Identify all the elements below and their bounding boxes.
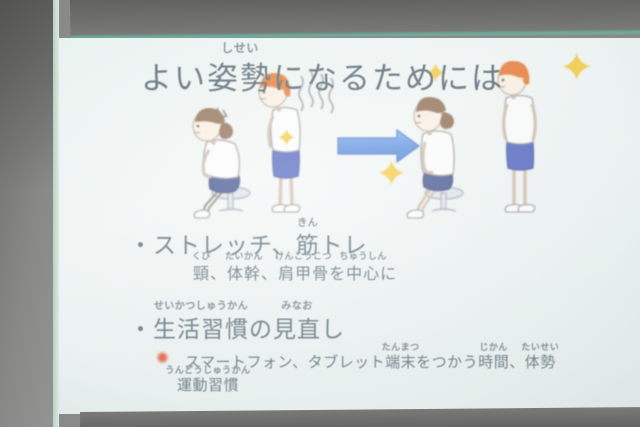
bullet-2-seg-0: 生活習慣 (153, 316, 249, 342)
b2s-seg-4: 、 (509, 354, 525, 371)
bullet-2-ruby-2: みなお (281, 297, 313, 312)
slide-title-text: よいしせい姿勢になるためには (141, 53, 504, 98)
b1s-ruby-0: くび (192, 249, 211, 262)
b1s-seg-2: 体幹 (227, 266, 261, 283)
b1s-seg-4: 肩甲骨 (278, 266, 329, 283)
sparkle-icon (379, 161, 404, 186)
b2s-seg-3: 時間 (478, 354, 509, 371)
bullet-2-marker: ・ (129, 316, 153, 342)
b1s-seg-5: を (329, 266, 346, 283)
bullet-2-seg-1: の (249, 316, 273, 342)
laser-pointer-dot (157, 352, 168, 363)
bullet-2: ・せいかつしゅうかん生活習慣のみなお見直し (129, 310, 345, 344)
b1s-ruby-4: けんこうこつ (275, 249, 332, 262)
b2s-seg-2: をつかう (416, 354, 478, 371)
slide-title: よいしせい姿勢になるためには (141, 53, 504, 98)
projected-slide: よいしせい姿勢になるためには ・ストレッチ、きん筋トレ くび頸、たいかん体幹、け… (59, 38, 640, 414)
bullet-2-seg-3: し (321, 316, 345, 342)
wall-left-shading (0, 0, 54, 427)
bullet-1-subline: くび頸、たいかん体幹、けんこうこつ肩甲骨をちゅうしん中心に (193, 260, 397, 284)
title-seg-0: よい (141, 61, 207, 96)
bullet-2-seg-2: 見直 (273, 316, 321, 342)
bullet-2-subline-2: うんどうしゅうかん運動習慣 (177, 374, 239, 395)
projection-room: よいしせい姿勢になるためには ・ストレッチ、きん筋トレ くび頸、たいかん体幹、け… (0, 0, 640, 427)
b1s-seg-1: 、 (210, 266, 227, 283)
b2s-ruby-5: たいせい (521, 340, 559, 353)
bullet-1-ruby-0: きん (297, 214, 318, 229)
title-ruby-0: しせい (221, 39, 259, 56)
transition-arrow-icon (338, 130, 419, 162)
figure-slouching-girl (193, 108, 250, 218)
title-seg-1: 姿勢 (207, 61, 273, 96)
bullet-2-ruby-0: せいかつしゅうかん (154, 297, 249, 312)
b1s-seg-6: 中心 (346, 266, 380, 283)
b1s-ruby-2: たいかん (225, 249, 263, 262)
sparkle-icon (563, 53, 590, 80)
title-seg-2: になるためには (273, 61, 504, 96)
b2s-ruby-3: じかん (479, 340, 508, 353)
b1s-seg-3: 、 (261, 266, 278, 283)
b2s-seg-1: 端末 (385, 354, 416, 371)
b2s2-ruby-0: うんどうしゅうかん (165, 363, 250, 376)
b2s2-seg-0: 運動習慣 (177, 377, 239, 394)
figure-good-posture-girl (407, 97, 463, 218)
b1s-seg-7: に (380, 266, 397, 283)
b2s-ruby-1: たんまつ (382, 340, 420, 353)
b2s-seg-5: 体勢 (525, 354, 556, 371)
bullet-1-marker: ・ (129, 232, 153, 258)
b1s-seg-0: 頸 (193, 266, 210, 283)
